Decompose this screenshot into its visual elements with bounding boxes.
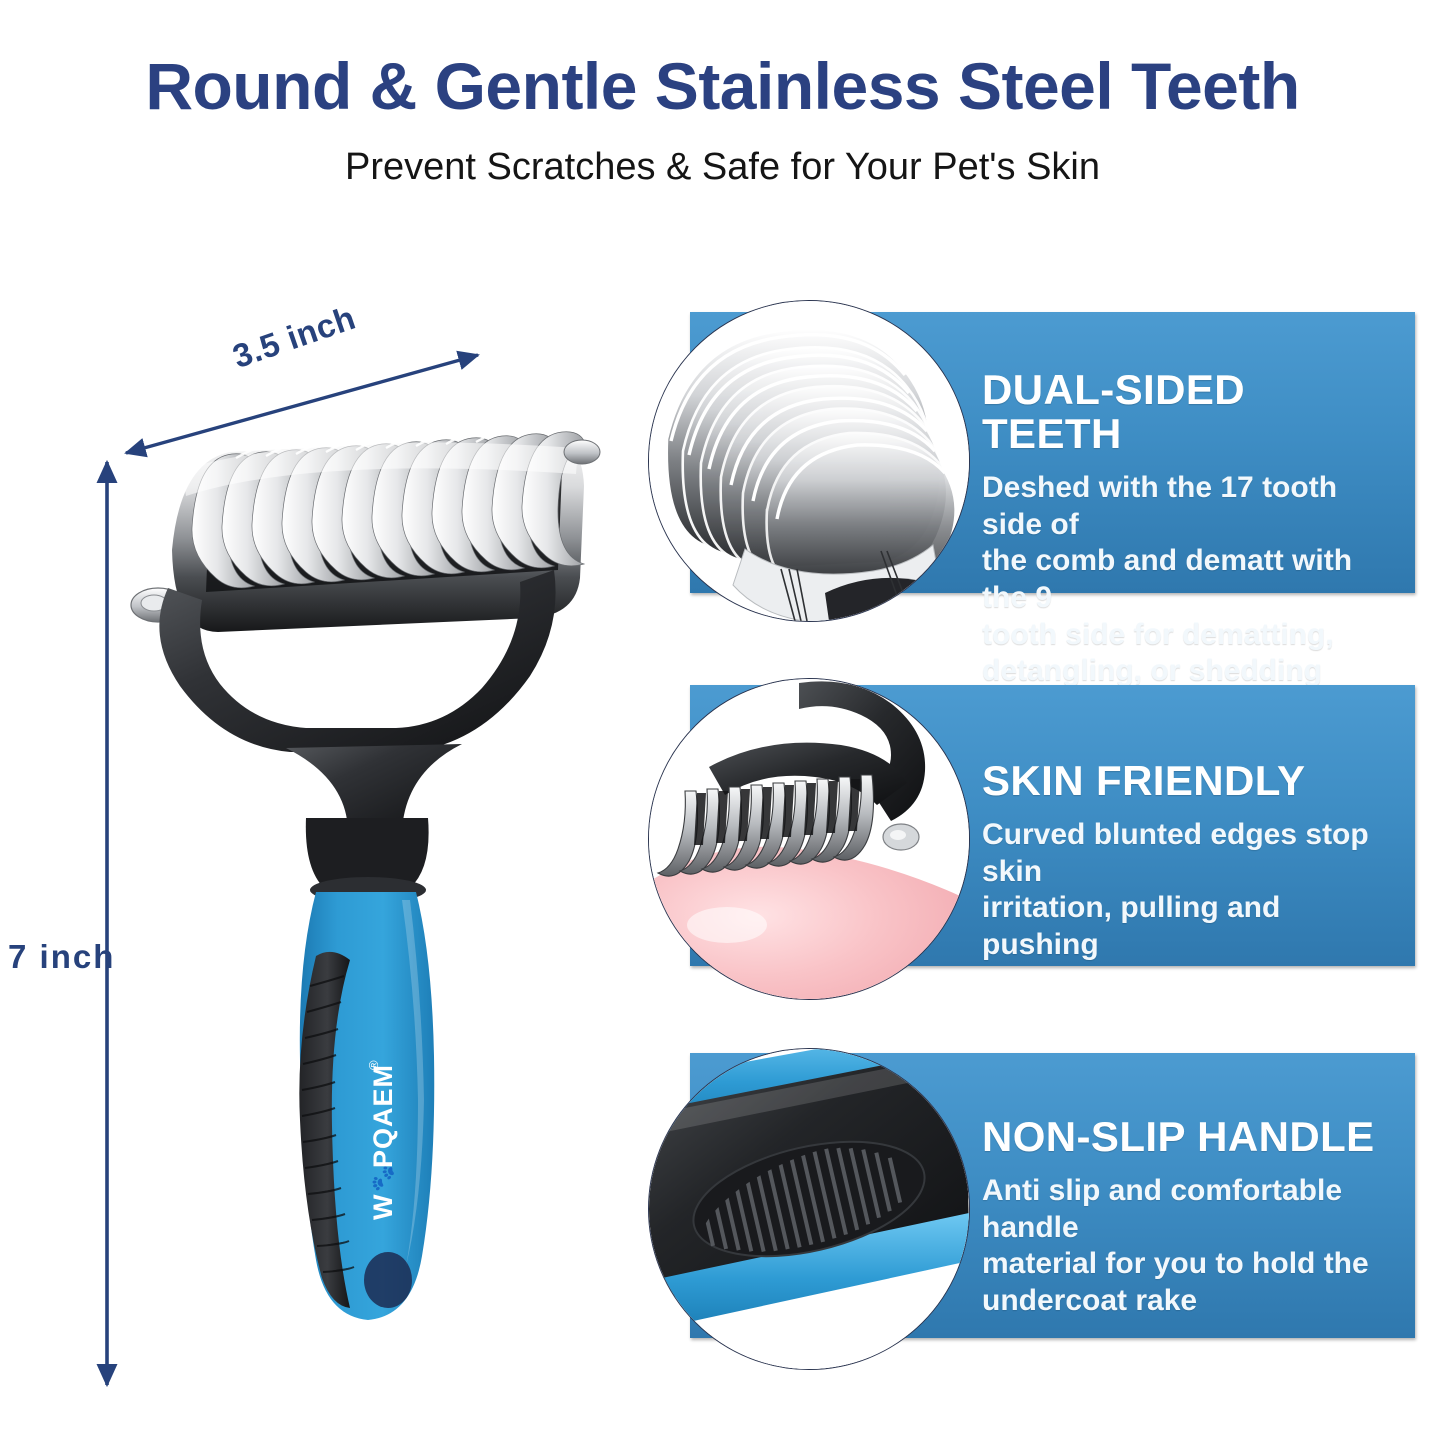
page-subtitle: Prevent Scratches & Safe for Your Pet's … [0, 146, 1445, 189]
feature-body: Curved blunted edges stop skin irritatio… [982, 817, 1381, 963]
svg-text:®: ® [366, 1060, 381, 1070]
svg-text:PQAEM: PQAEM [368, 1064, 398, 1168]
feature-title: NON-SLIP HANDLE [982, 1115, 1381, 1159]
product-photo-dematting-rake: W 🐾 PQAEM ® [110, 400, 630, 1360]
feature-photo-comb-on-pink-skin [648, 678, 970, 1000]
height-dimension-label: 7 inch [8, 938, 115, 976]
feature-photo-handle-grip-texture [648, 1048, 970, 1370]
page-title: Round & Gentle Stainless Steel Teeth [0, 48, 1445, 124]
feature-body: Anti slip and comfortable handle materia… [982, 1173, 1381, 1319]
svg-text:W: W [368, 1194, 398, 1220]
feature-photo-comb-teeth-closeup [648, 300, 970, 622]
feature-title: SKIN FRIENDLY [982, 759, 1381, 803]
hang-hole [364, 1252, 412, 1308]
brand-logo: W 🐾 PQAEM ® [366, 1060, 398, 1220]
feature-body: Deshed with the 17 tooth side of the com… [982, 470, 1381, 690]
feature-title: DUAL-SIDED TEETH [982, 368, 1381, 456]
